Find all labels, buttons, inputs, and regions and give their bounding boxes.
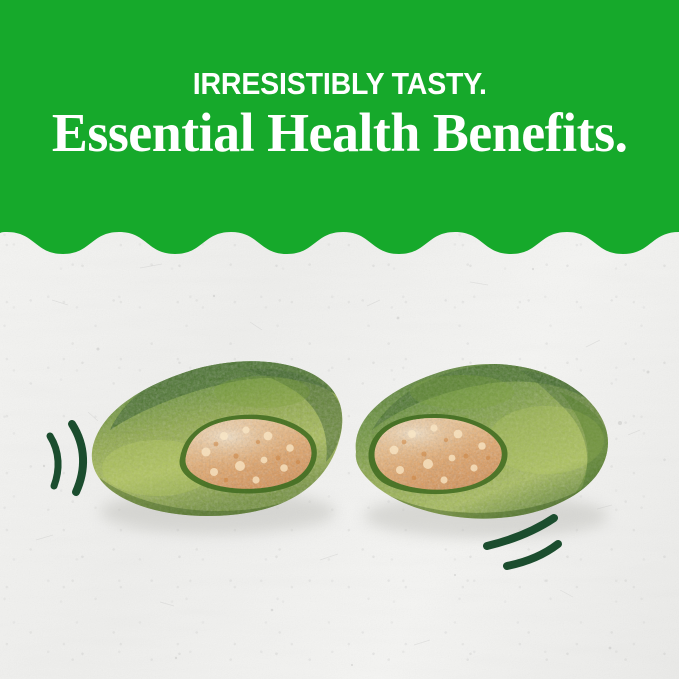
motion-line-left-inner <box>72 424 83 492</box>
motion-lines-left <box>50 424 83 492</box>
promo-banner: IRRESISTIBLY TASTY. Essential Health Ben… <box>0 0 679 679</box>
product-illustration <box>0 0 679 679</box>
motion-line-right-lower <box>507 544 558 566</box>
motion-line-left-outer <box>50 436 58 486</box>
